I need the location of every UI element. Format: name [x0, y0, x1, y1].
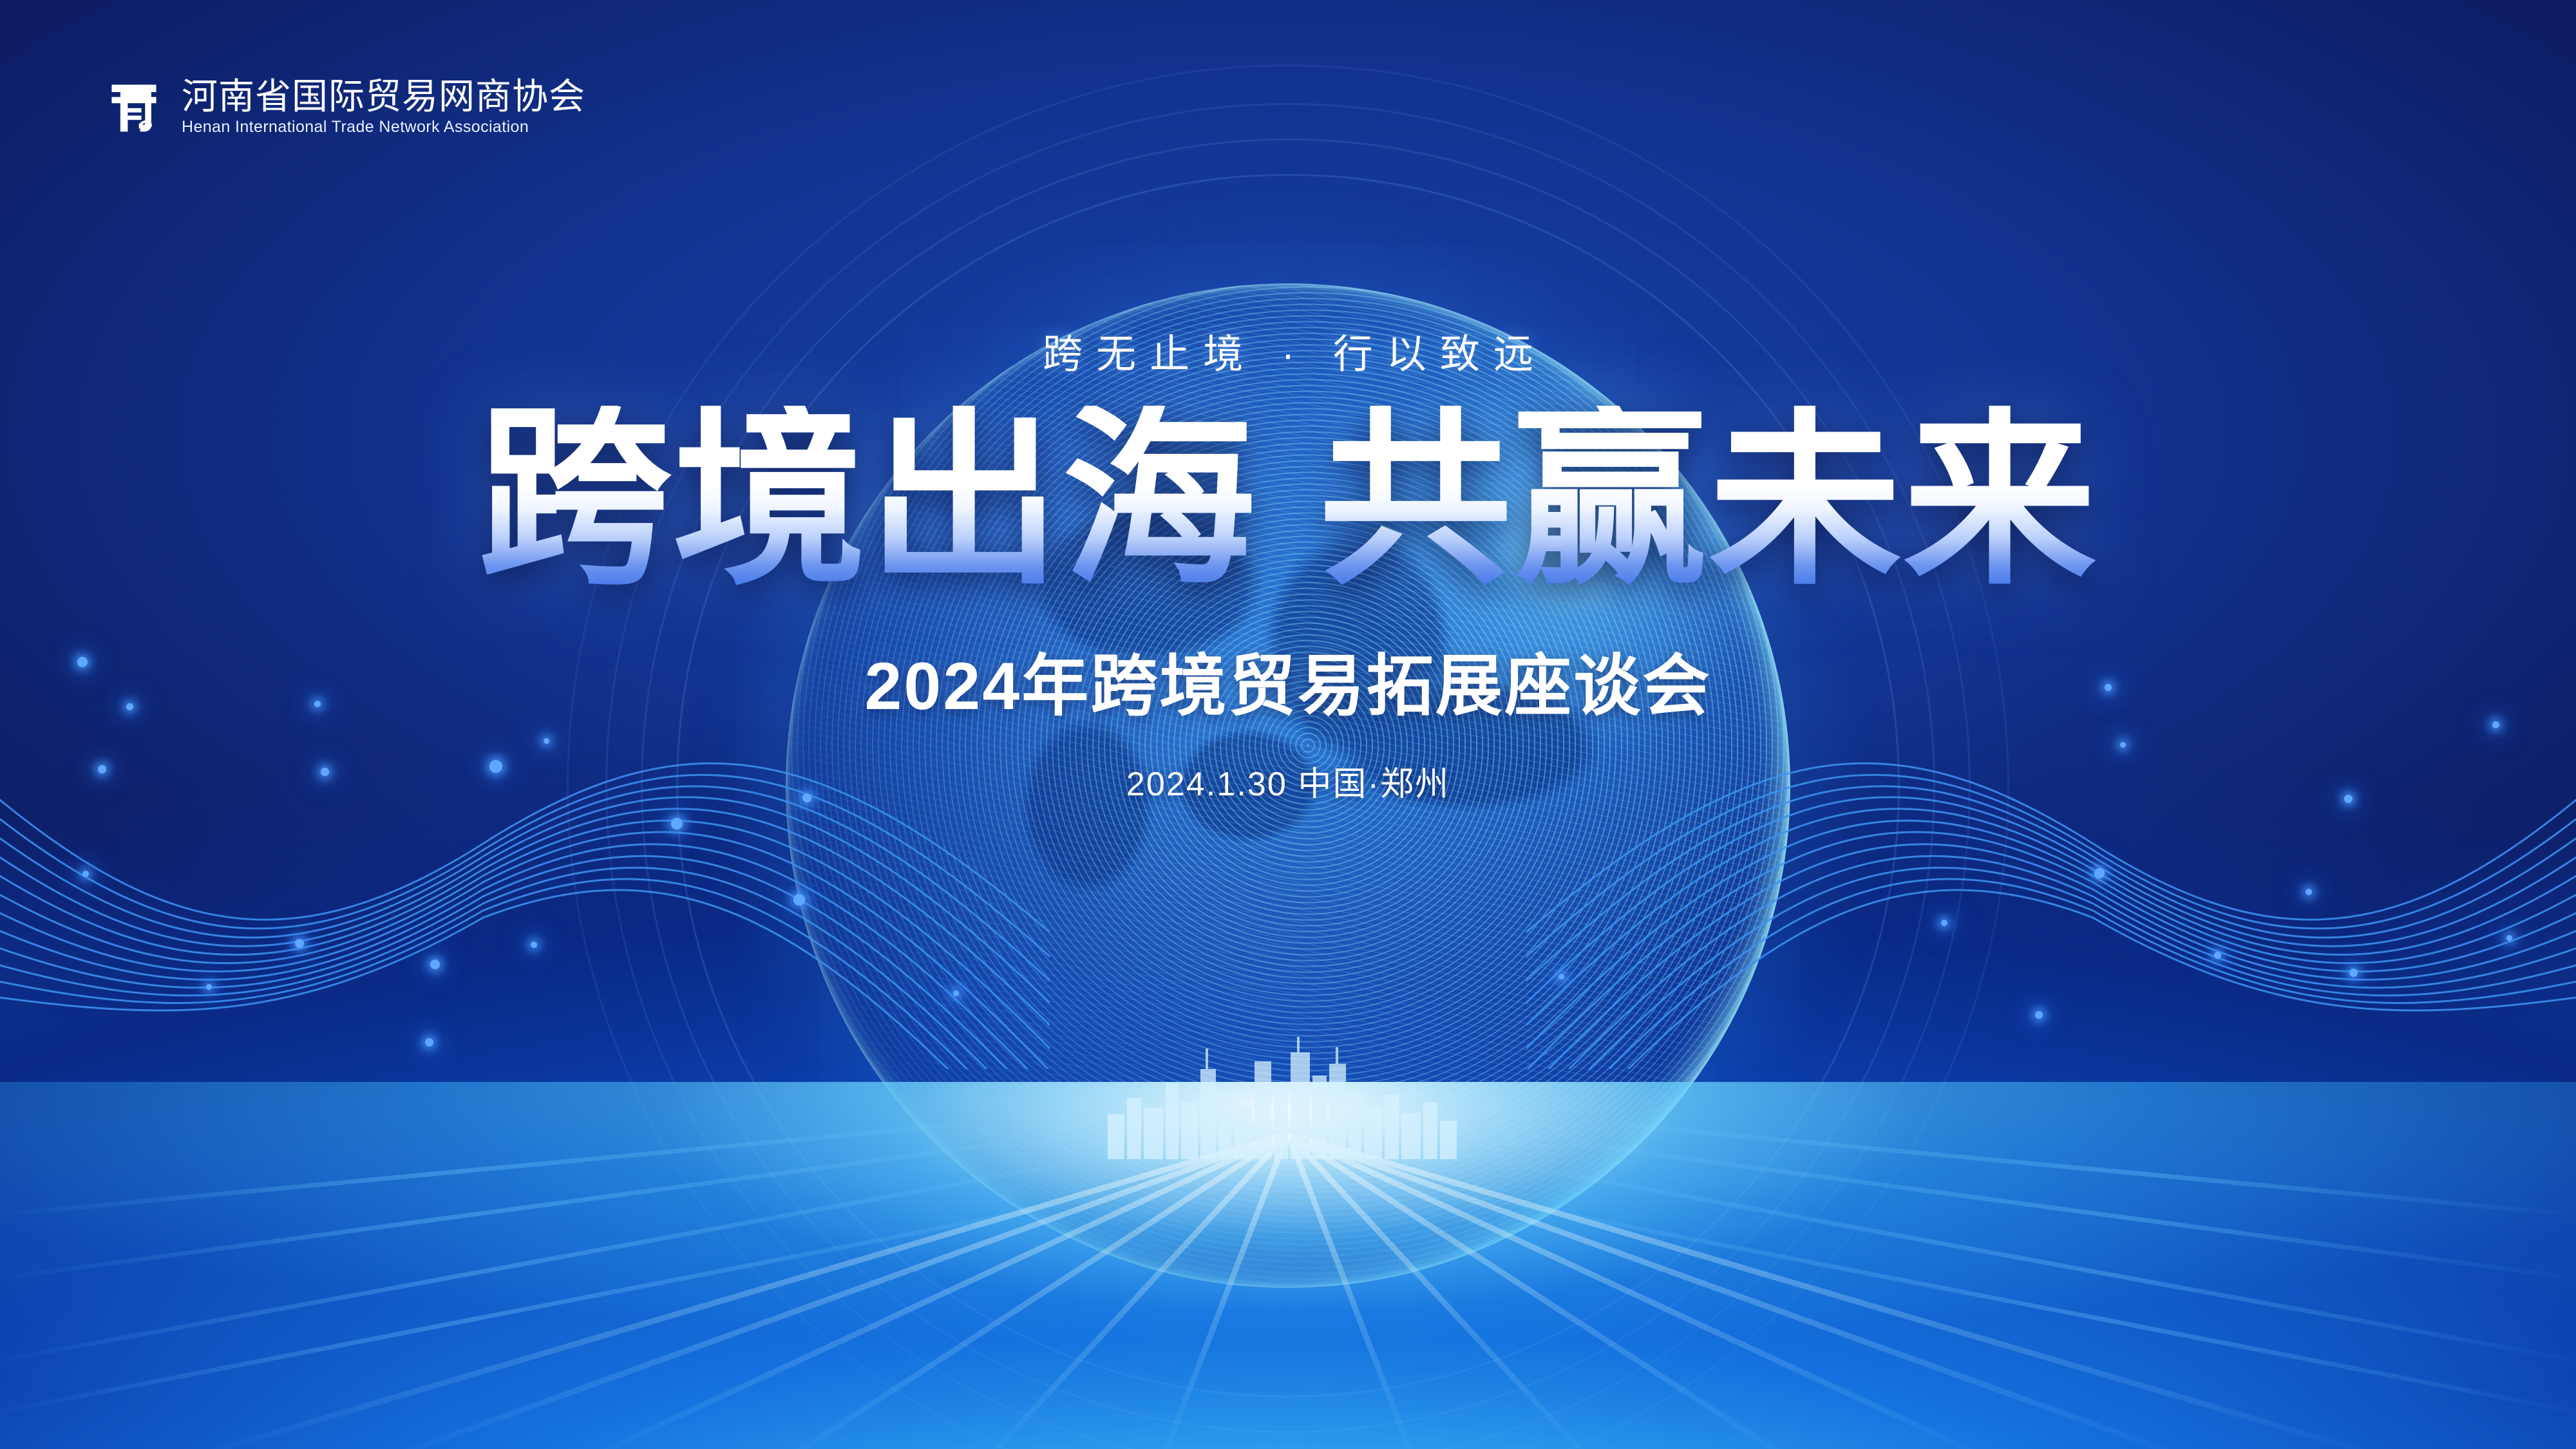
seal-emblem-icon	[103, 76, 165, 138]
association-logo: 河南省国际贸易网商协会 Henan International Trade Ne…	[103, 76, 585, 138]
hero-title-part2: 共赢未来	[1319, 406, 2098, 591]
hero-date-location: 2024.1.30 中国·郑州	[0, 757, 2576, 805]
hero-title: 跨境出海 共赢未来	[0, 406, 2576, 591]
city-skyline	[1082, 1030, 1494, 1159]
hero-tagline: 跨无止境 · 行以致远	[0, 335, 2576, 375]
poster-canvas: 河南省国际贸易网商协会 Henan International Trade Ne…	[0, 0, 2576, 1449]
logo-name-cn: 河南省国际贸易网商协会	[182, 79, 585, 115]
hero-subtitle: 2024年跨境贸易拓展座谈会	[0, 631, 2576, 728]
hero-title-part1: 跨境出海	[478, 406, 1257, 591]
perspective-road-rays	[0, 1133, 2576, 1449]
hero-copy: 跨无止境 · 行以致远 跨境出海 共赢未来 2024年跨境贸易拓展座谈会 202…	[0, 335, 2576, 805]
logo-name-en: Henan International Trade Network Associ…	[182, 119, 585, 135]
